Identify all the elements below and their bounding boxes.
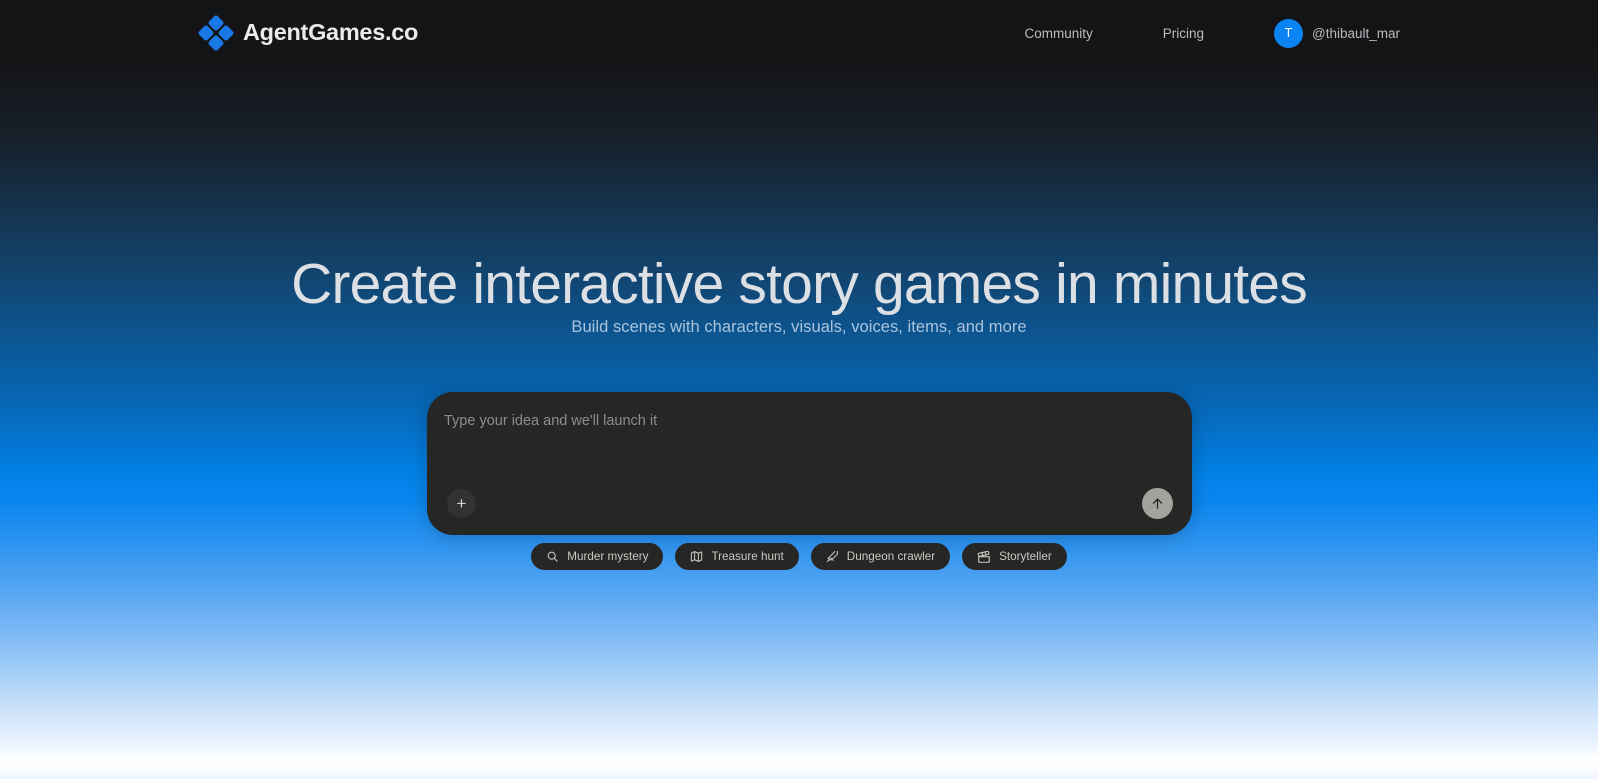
suggestion-chips: Murder mystery Treasure hunt Dungeon cra…: [0, 543, 1598, 570]
header-nav: Community Pricing T @thibault_mar: [1024, 0, 1400, 66]
chip-dungeon-crawler[interactable]: Dungeon crawler: [811, 543, 950, 570]
site-header: AgentGames.co Community Pricing T @thiba…: [0, 0, 1598, 66]
chip-storyteller[interactable]: Storyteller: [962, 543, 1067, 570]
prompt-composer[interactable]: Type your idea and we'll launch it +: [427, 392, 1192, 535]
avatar: T: [1274, 19, 1303, 48]
chip-label: Dungeon crawler: [847, 551, 935, 563]
page-root: AgentGames.co Community Pricing T @thiba…: [0, 0, 1598, 779]
chip-label: Treasure hunt: [711, 551, 783, 563]
brand-name: AgentGames.co: [243, 21, 418, 45]
chip-label: Murder mystery: [567, 551, 648, 563]
send-button[interactable]: [1142, 488, 1173, 519]
hero-section: Create interactive story games in minute…: [0, 0, 1598, 779]
section-divider: [0, 755, 1598, 756]
page-subtitle: Build scenes with characters, visuals, v…: [0, 318, 1598, 337]
page-title: Create interactive story games in minute…: [0, 253, 1598, 316]
prompt-input[interactable]: Type your idea and we'll launch it: [427, 392, 1192, 492]
sword-icon: [826, 550, 839, 563]
diamond-cluster-icon: [200, 17, 232, 49]
attach-button[interactable]: +: [447, 489, 476, 518]
brand-logo-link[interactable]: AgentGames.co: [200, 17, 418, 49]
chip-treasure-hunt[interactable]: Treasure hunt: [675, 543, 798, 570]
arrow-up-icon: [1150, 496, 1165, 511]
clapperboard-icon: [977, 550, 991, 564]
chip-murder-mystery[interactable]: Murder mystery: [531, 543, 663, 570]
map-icon: [690, 550, 703, 563]
user-menu[interactable]: T @thibault_mar: [1274, 19, 1400, 48]
nav-link-pricing[interactable]: Pricing: [1163, 26, 1204, 41]
user-handle: @thibault_mar: [1312, 26, 1400, 41]
plus-icon: +: [457, 495, 467, 512]
search-icon: [546, 550, 559, 563]
chip-label: Storyteller: [999, 551, 1052, 563]
nav-link-community[interactable]: Community: [1024, 26, 1092, 41]
prompt-placeholder: Type your idea and we'll launch it: [444, 413, 657, 429]
